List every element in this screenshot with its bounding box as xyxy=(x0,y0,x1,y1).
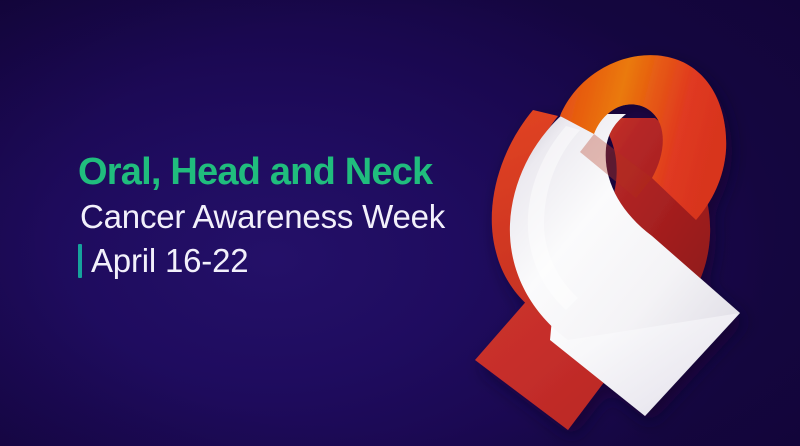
awareness-ribbon-graphic xyxy=(440,30,800,446)
date-line: April 16-22 xyxy=(78,243,478,279)
date-text: April 16-22 xyxy=(91,243,248,279)
title-block: Oral, Head and Neck Cancer Awareness Wee… xyxy=(78,152,478,279)
page-title: Oral, Head and Neck xyxy=(78,152,478,193)
page-subtitle: Cancer Awareness Week xyxy=(80,199,478,236)
poster-canvas: Oral, Head and Neck Cancer Awareness Wee… xyxy=(0,0,800,446)
date-accent-bar xyxy=(78,244,82,278)
